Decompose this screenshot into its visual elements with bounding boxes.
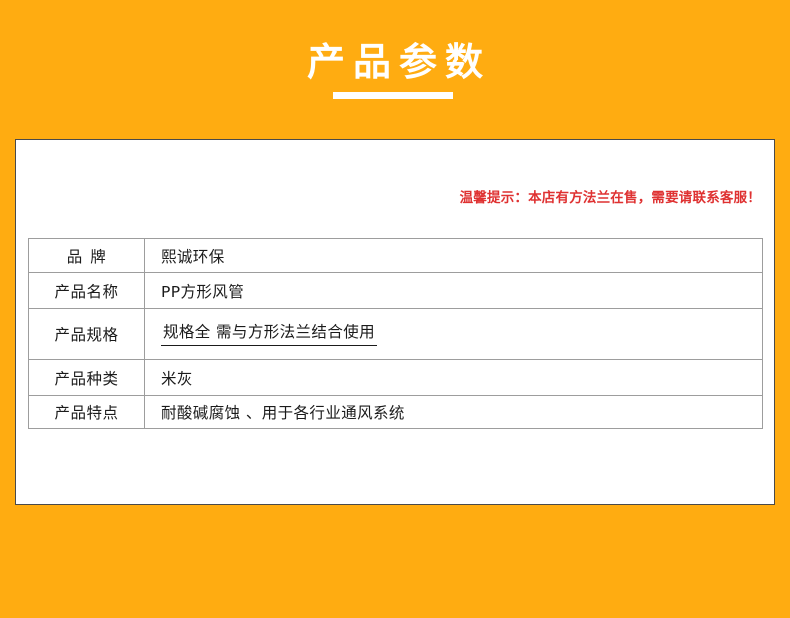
spec-label-category: 产品种类: [29, 360, 145, 396]
spec-label-specification: 产品规格: [29, 309, 145, 360]
spec-value-category: 米灰: [145, 360, 763, 396]
spec-label-product-name: 产品名称: [29, 273, 145, 309]
product-spec-table: 品 牌 熙诚环保 产品名称 PP方形风管 产品规格 规格全 需与方形法兰结合使用…: [28, 238, 763, 429]
spec-value-specification-text: 规格全 需与方形法兰结合使用: [161, 322, 377, 346]
page-header: 产品参数: [0, 0, 790, 139]
table-row: 产品名称 PP方形风管: [29, 273, 763, 309]
page-title: 产品参数: [0, 38, 790, 86]
table-row: 产品特点 耐酸碱腐蚀 、用于各行业通风系统: [29, 396, 763, 429]
spec-value-brand: 熙诚环保: [145, 239, 763, 273]
spec-label-features: 产品特点: [29, 396, 145, 429]
spec-value-product-name: PP方形风管: [145, 273, 763, 309]
spec-value-features: 耐酸碱腐蚀 、用于各行业通风系统: [145, 396, 763, 429]
spec-value-specification: 规格全 需与方形法兰结合使用: [145, 309, 763, 360]
product-parameters-card: 温馨提示：本店有方法兰在售，需要请联系客服！ 品 牌 熙诚环保 产品名称 PP方…: [15, 139, 775, 505]
table-row: 产品规格 规格全 需与方形法兰结合使用: [29, 309, 763, 360]
table-row: 产品种类 米灰: [29, 360, 763, 396]
customer-service-notice: 温馨提示：本店有方法兰在售，需要请联系客服！: [460, 189, 761, 207]
spec-label-brand: 品 牌: [29, 239, 145, 273]
title-underline-bar: [333, 92, 453, 99]
table-row: 品 牌 熙诚环保: [29, 239, 763, 273]
